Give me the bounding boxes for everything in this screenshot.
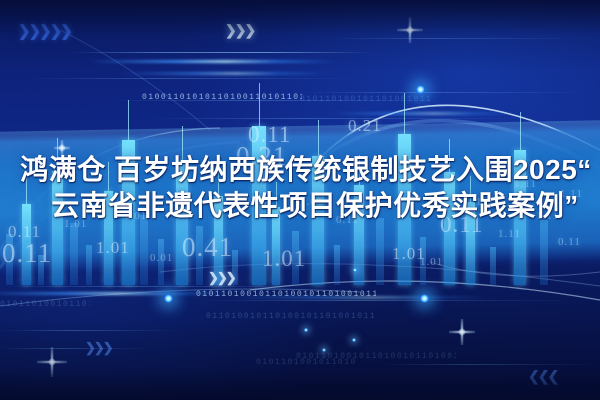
bar-chart-bar (490, 247, 496, 285)
bar-chart-wick (318, 120, 319, 156)
bar-chart-bar (86, 245, 92, 285)
bar-chart-bar (232, 250, 238, 285)
bar-chart-bar (70, 223, 78, 285)
bar-chart-bar (376, 218, 384, 285)
headline-line-1: 鸿满仓 百岁坊纳西族传统银制技艺入围2025“ (0, 152, 600, 188)
bar-chart-bar (6, 234, 13, 285)
bar-chart-bar (158, 239, 164, 285)
headline-block: 鸿满仓 百岁坊纳西族传统银制技艺入围2025“ 云南省非遗代表性项目保护优秀实践… (0, 152, 600, 224)
bar-chart-bar (38, 255, 44, 285)
bar-chart-wick (404, 93, 405, 134)
headline-line-2: 云南省非遗代表性项目保护优秀实践案例” (0, 188, 600, 224)
bar-chart-wick (128, 100, 129, 140)
bar-chart-bar (540, 220, 548, 285)
bar-chart-wick (259, 83, 260, 126)
bar-chart-wick (520, 112, 521, 150)
bar-chart-bar (196, 226, 203, 285)
lower-arc-2 (0, 289, 360, 306)
bar-chart-bar (334, 245, 340, 285)
bar-chart-bar (420, 237, 426, 285)
promo-banner: 0.110.210.110.111.011.011.010.411.011.01… (0, 0, 600, 400)
bar-chart-bar (140, 215, 148, 285)
bar-chart-bar (292, 231, 299, 285)
